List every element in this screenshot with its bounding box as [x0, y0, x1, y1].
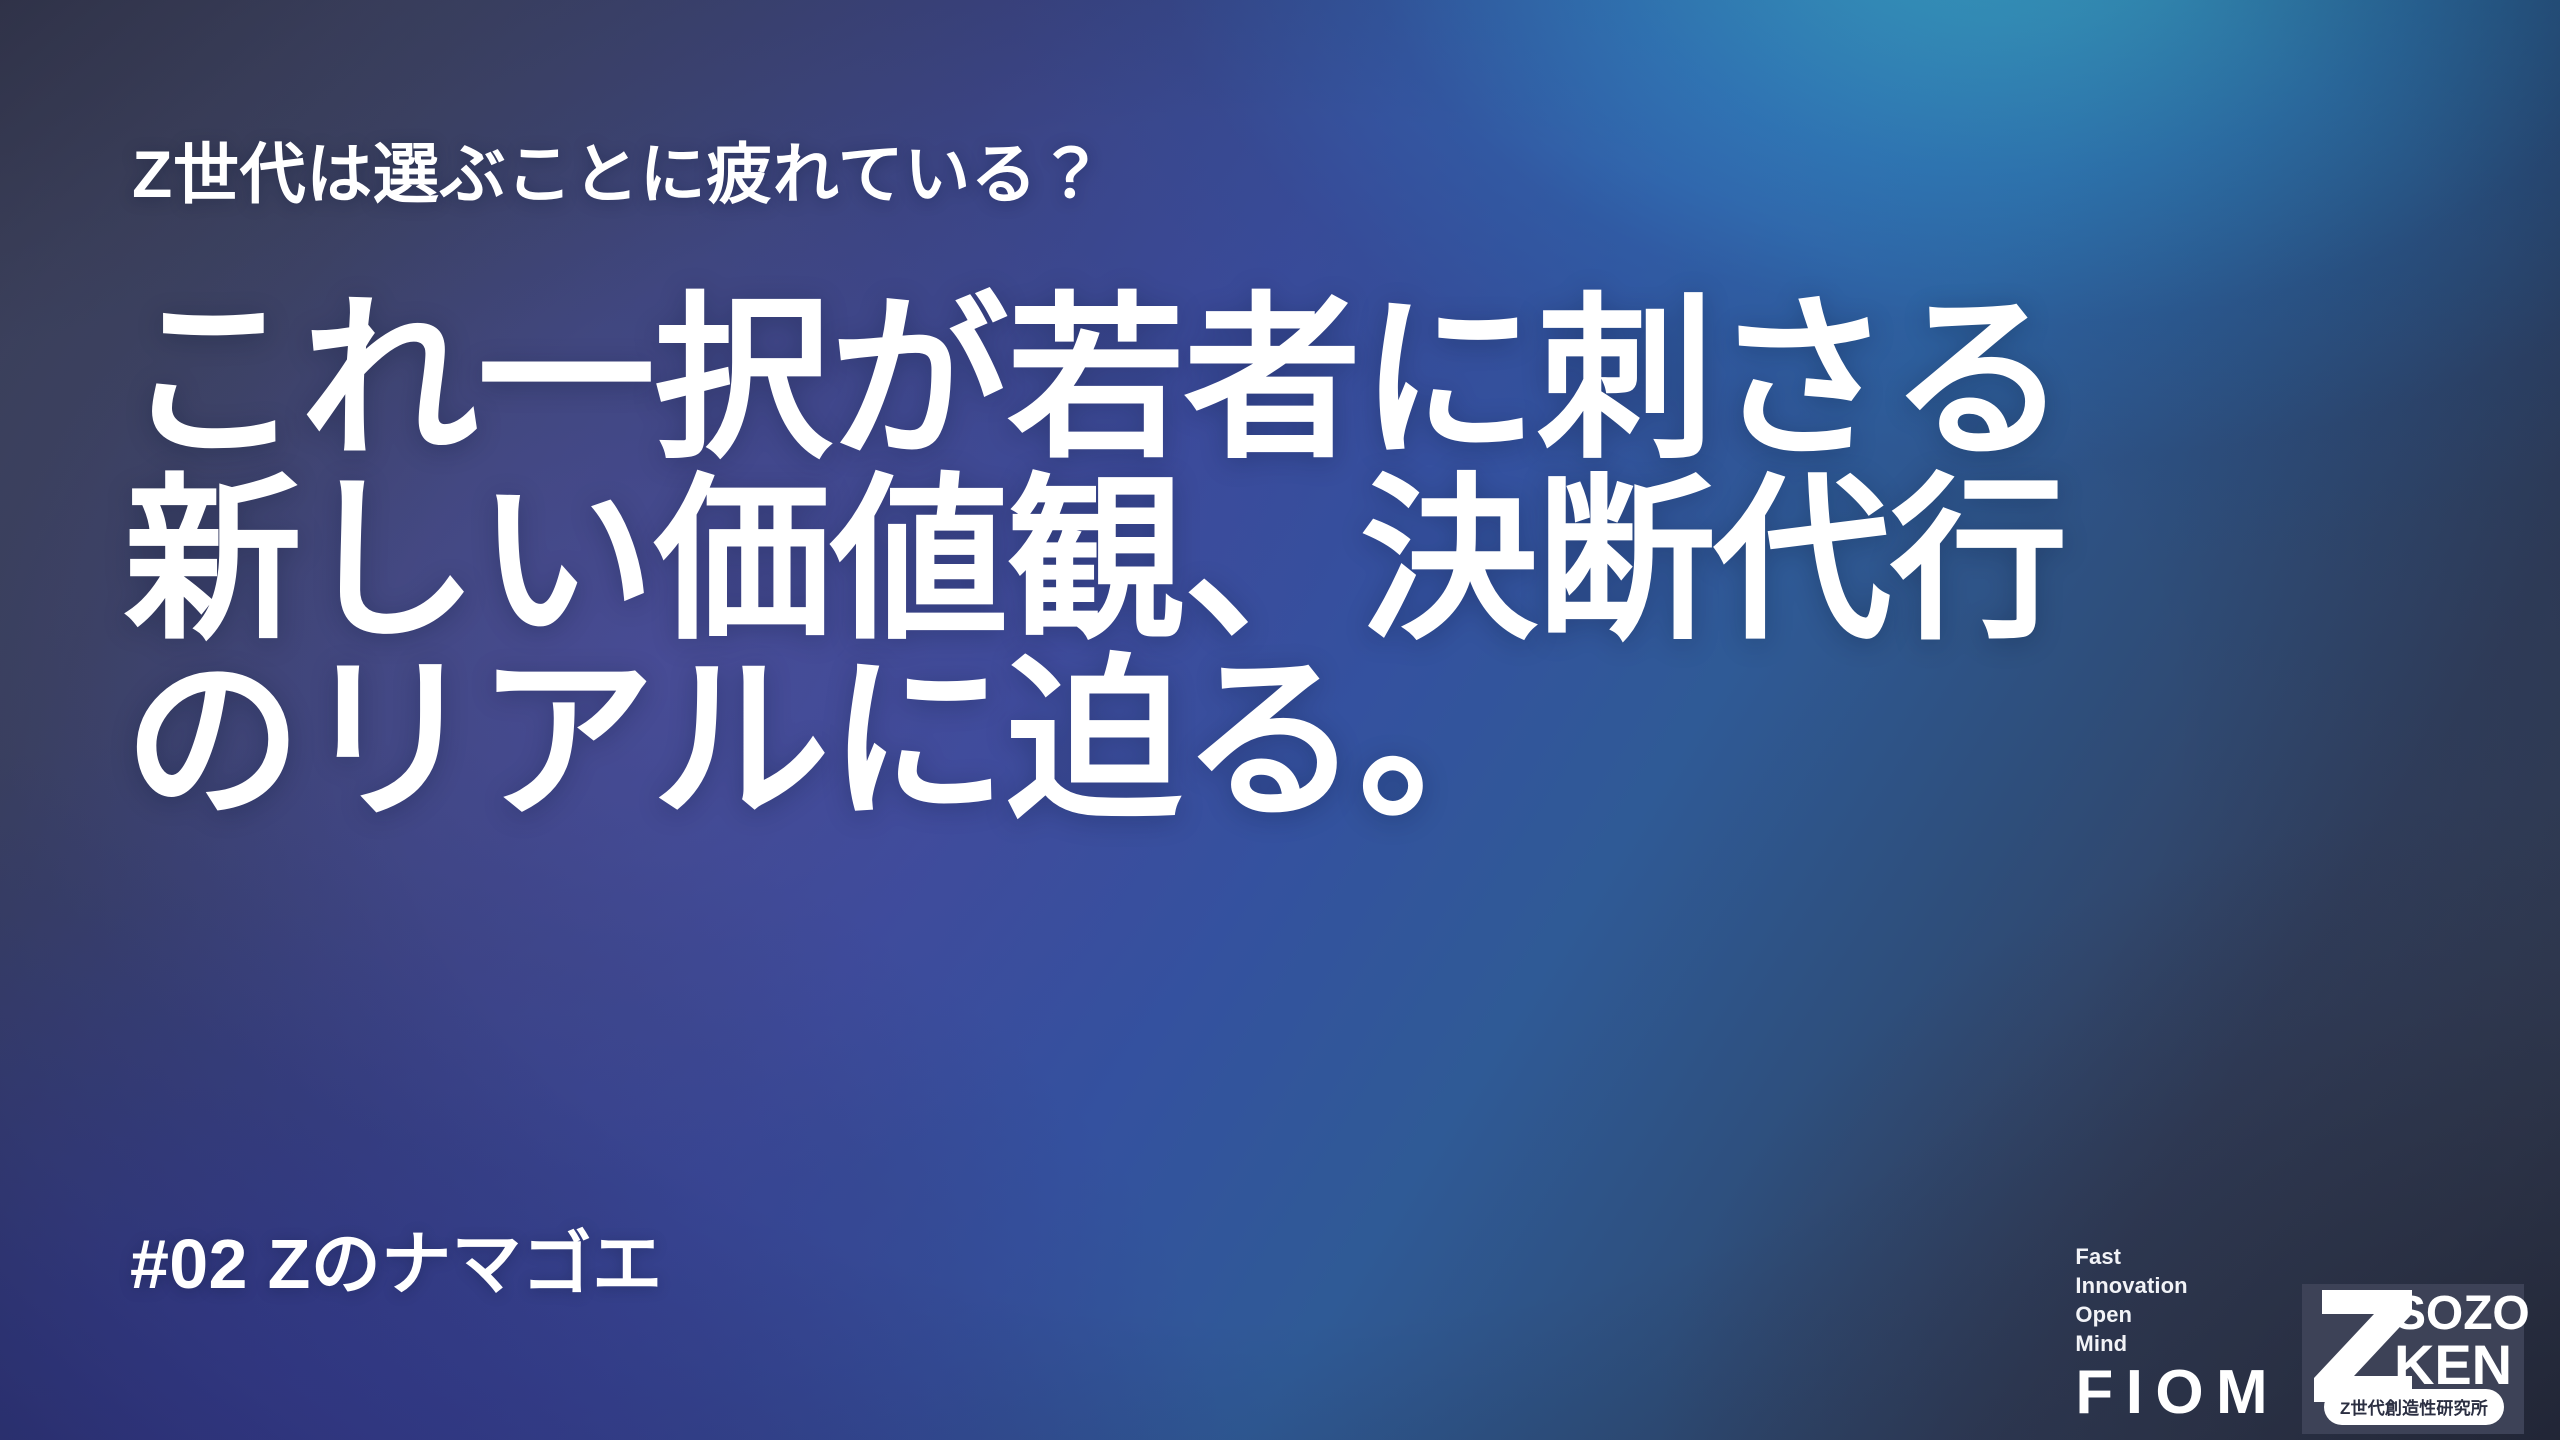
- sozoken-logo-inner: SOZO KEN Z世代創造性研究所: [2302, 1284, 2524, 1434]
- fiom-logo: Fast Innovation Open Mind FIOM: [2075, 1242, 2302, 1434]
- headline-line-3: のリアルに迫る。: [124, 651, 2504, 832]
- fiom-tagline: Fast Innovation Open Mind: [2075, 1242, 2187, 1358]
- headline-line-1: これ一択が若者に刺さる: [124, 290, 2504, 471]
- fiom-tagline-line-1: Fast: [2075, 1242, 2187, 1271]
- episode-caption: #02 Zのナマゴエ: [130, 1208, 663, 1309]
- headline-block: これ一択が若者に刺さる 新しい価値観、決断代行 のリアルに迫る。: [124, 290, 2504, 832]
- sozoken-word-sozo: SOZO: [2394, 1292, 2530, 1337]
- headline-line-2: 新しい価値観、決断代行: [124, 471, 2504, 652]
- fiom-tagline-line-2: Innovation: [2075, 1271, 2187, 1300]
- sozoken-wordmark: SOZO KEN: [2394, 1292, 2530, 1391]
- logo-bar: Fast Innovation Open Mind FIOM SOZO KEN: [2075, 1242, 2524, 1434]
- sozoken-logo: SOZO KEN Z世代創造性研究所: [2302, 1284, 2524, 1434]
- fiom-tagline-line-4: Mind: [2075, 1329, 2187, 1358]
- slide-content: Z世代は選ぶことに疲れている？ これ一択が若者に刺さる 新しい価値観、決断代行 …: [0, 0, 2560, 1440]
- fiom-tagline-line-3: Open: [2075, 1300, 2187, 1329]
- sozoken-badge: Z世代創造性研究所: [2324, 1389, 2504, 1425]
- slide-canvas: Z世代は選ぶことに疲れている？ これ一択が若者に刺さる 新しい価値観、決断代行 …: [0, 0, 2560, 1440]
- sozoken-word-ken: KEN: [2394, 1339, 2530, 1391]
- kicker-question: Z世代は選ぶことに疲れている？: [132, 138, 1104, 211]
- fiom-wordmark: FIOM: [2075, 1362, 2280, 1424]
